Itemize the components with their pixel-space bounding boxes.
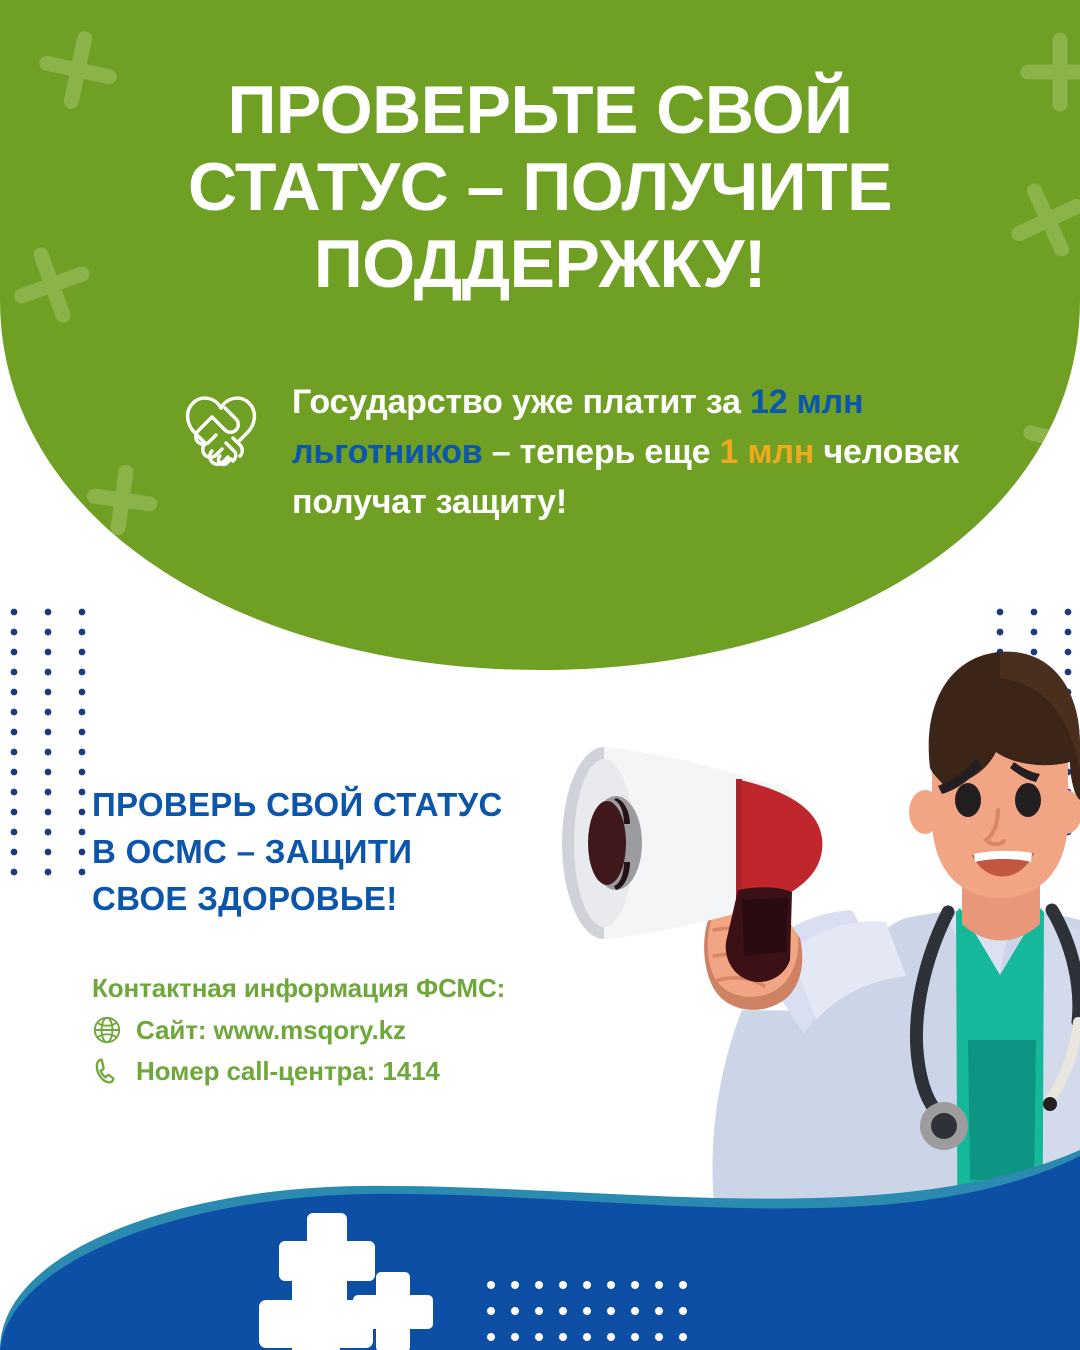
contact-phone-row[interactable]: Номер call-центра: 1414 xyxy=(92,1056,732,1086)
cta-line-2: В ОСМС – ЗАЩИТИ xyxy=(92,829,612,876)
contact-title: Контактная информация ФСМС: xyxy=(92,975,732,1001)
contact-website-label: Сайт: www.msqory.kz xyxy=(136,1017,406,1043)
headline-line-1: ПРОВЕРЬТЕ СВОЙ xyxy=(90,72,990,149)
poster-canvas: ПРОВЕРЬТЕ СВОЙ СТАТУС – ПОЛУЧИТЕ ПОДДЕРЖ… xyxy=(0,0,1080,1350)
subtitle-block: Государство уже платит за 12 млн льготни… xyxy=(178,378,968,528)
subtitle-highlight-million: 1 млн xyxy=(720,433,815,471)
contact-phone-label: Номер call-центра: 1414 xyxy=(136,1058,440,1084)
page-title: ПРОВЕРЬТЕ СВОЙ СТАТУС – ПОЛУЧИТЕ ПОДДЕРЖ… xyxy=(90,72,990,302)
cta-line-1: ПРОВЕРЬ СВОЙ СТАТУС xyxy=(92,782,612,829)
headline-line-3: ПОДДЕРЖКУ! xyxy=(90,226,990,303)
handshake-heart-icon xyxy=(178,384,264,475)
subtitle-text: Государство уже платит за 12 млн льготни… xyxy=(292,378,968,528)
contact-block: Контактная информация ФСМС: Сайт: www.ms… xyxy=(92,975,732,1097)
globe-icon xyxy=(92,1015,122,1045)
subtitle-part-2: – теперь еще xyxy=(482,433,719,471)
subtitle-part-1: Государство уже платит за xyxy=(292,383,750,421)
contact-website-row[interactable]: Сайт: www.msqory.kz xyxy=(92,1015,732,1045)
cta-heading: ПРОВЕРЬ СВОЙ СТАТУС В ОСМС – ЗАЩИТИ СВОЕ… xyxy=(92,782,612,923)
cta-line-3: СВОЕ ЗДОРОВЬЕ! xyxy=(92,876,612,923)
headline-line-2: СТАТУС – ПОЛУЧИТЕ xyxy=(90,149,990,226)
phone-icon xyxy=(92,1056,122,1086)
